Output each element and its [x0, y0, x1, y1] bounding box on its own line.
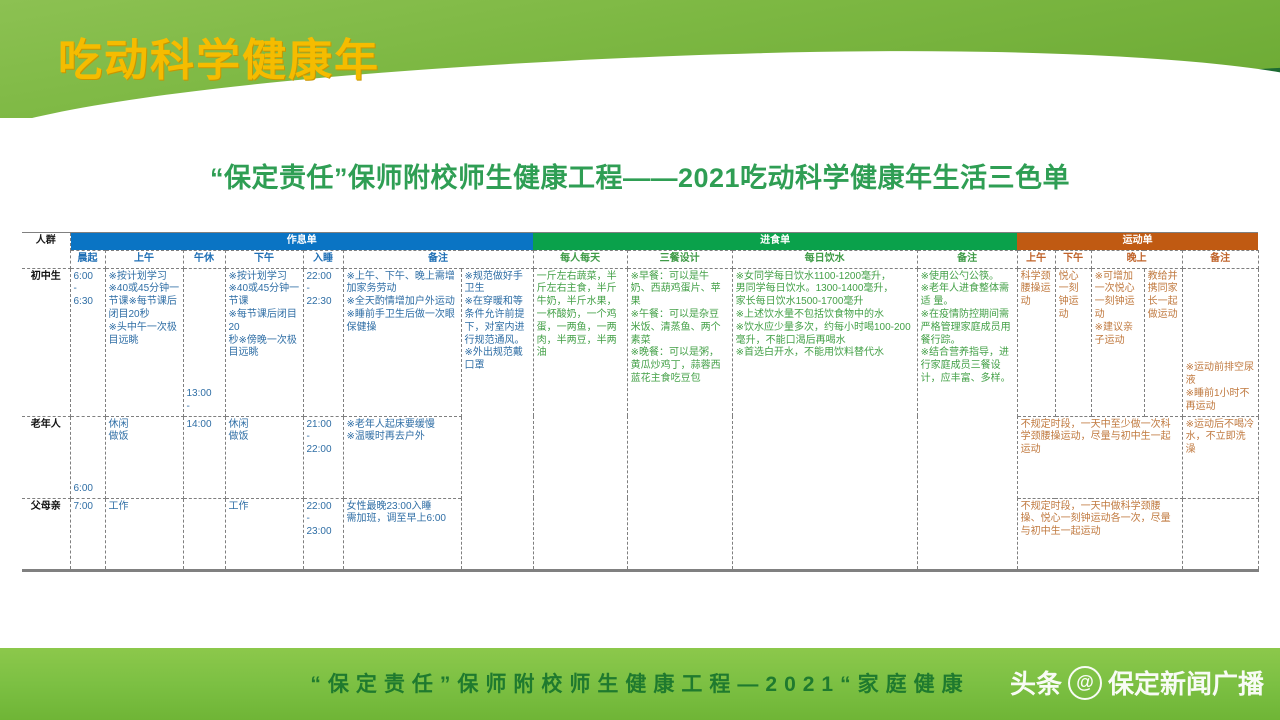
cell-shared-eat-daily: 一斤左右蔬菜，半斤左右主食，半斤牛奶，半斤水果，一杯酸奶，一个鸡蛋，一两鱼，一两…: [533, 268, 627, 570]
cell-parents-pm: 工作: [225, 498, 303, 570]
cell-junior-move-eve-family: 教给并携同家长一起做运动: [1144, 268, 1182, 416]
cell-parents-morning-rise: 7:00: [70, 498, 105, 570]
row-label-elder: 老年人: [22, 416, 70, 498]
cell-shared-move-note-top: ※运动前排空尿液 ※睡前1小时不再运动: [1182, 268, 1258, 416]
watermark-brand: 头条: [1010, 664, 1062, 701]
col-header-am: 上午: [105, 250, 183, 268]
cell-junior-move-pm: 悦心一刻钟运动: [1055, 268, 1091, 416]
three-color-table-wrapper: 人群 作息单 进食单 运动单 晨起 上午 午休 下午 入睡 备注 每人每天 三餐…: [22, 232, 1258, 572]
cell-parents-sleep: 22:00 - 23:00: [303, 498, 343, 570]
group-header-eat: 进食单: [533, 233, 1017, 251]
cell-shared-move-note-bottom: ※运动后不喝冷水，不立即洗澡: [1182, 416, 1258, 498]
cell-parents-am: 工作: [105, 498, 183, 570]
cell-junior-move-am: 科学颈腰操运动: [1017, 268, 1055, 416]
cell-junior-noon-rest: 13:00 -: [183, 268, 225, 416]
col-header-eat-note: 备注: [917, 250, 1017, 268]
col-header-move-eve: 晚上: [1091, 250, 1182, 268]
table-group-header-row: 人群 作息单 进食单 运动单: [22, 233, 1258, 251]
watermark-at-icon: @: [1068, 666, 1102, 700]
header-banner: 吃动科学健康年: [0, 0, 1280, 118]
col-header-morning-rise: 晨起: [70, 250, 105, 268]
cell-junior-am: ※按计划学习 ※40或45分钟一节课※每节课后闭目20秒 ※头中午一次极目远眺: [105, 268, 183, 416]
col-header-move-pm: 下午: [1055, 250, 1091, 268]
cell-shared-eat-note: ※使用公勺公筷。 ※老年人进食整体需适 量。 ※在疫情防控期间需严格管理家庭成员…: [917, 268, 1017, 570]
col-header-eat-daily: 每人每天: [533, 250, 627, 268]
cell-junior-move-eve: ※可增加一次悦心一刻钟运动 ※建议亲子运动: [1091, 268, 1144, 416]
cell-parents-noon-rest: [183, 498, 225, 570]
cell-elder-am: 休闲 做饭: [105, 416, 183, 498]
header-title: 吃动科学健康年: [58, 24, 380, 88]
cell-shared-hygiene-note: ※规范做好手卫生 ※在穿暖和等条件允许前提下，对室内进行规范通风。 ※外出规范戴…: [461, 268, 533, 570]
cell-elder-pm: 休闲 做饭: [225, 416, 303, 498]
table-row: 初中生 6:00 - 6:30 ※按计划学习 ※40或45分钟一节课※每节课后闭…: [22, 268, 1258, 416]
group-header-rest: 作息单: [70, 233, 533, 251]
cell-junior-rest-note: ※上午、下午、晚上需增加家务劳动 ※全天酌情增加户外运动 ※睡前手卫生后做一次眼…: [343, 268, 461, 416]
cell-parents-rest-note: 女性最晚23:00入睡 需加班，调至早上6:00: [343, 498, 461, 570]
cell-elder-rest-note: ※老年人起床要缓慢 ※温暖时再去户外: [343, 416, 461, 498]
cell-junior-pm: ※按计划学习 ※40或45分钟一节课 ※每节课后闭目20 秒※傍晚一次极目远眺: [225, 268, 303, 416]
col-header-pm: 下午: [225, 250, 303, 268]
col-header-noon-rest: 午休: [183, 250, 225, 268]
cell-parents-move-note: 不规定时段，一天中做科学颈腰操、悦心一刻钟运动各一次，尽量与初中生一起运动: [1017, 498, 1182, 570]
cell-shared-eat-meals: ※早餐：可以是牛奶、西葫鸡蛋片、苹果 ※午餐：可以是杂豆米饭、清蒸鱼、两个素菜 …: [627, 268, 732, 570]
watermark: 头条 @ 保定新闻广播: [1010, 664, 1264, 701]
cell-elder-noon-rest: 14:00: [183, 416, 225, 498]
col-header-eat-water: 每日饮水: [732, 250, 917, 268]
col-header-move-note: 备注: [1182, 250, 1258, 268]
group-header-move: 运动单: [1017, 233, 1258, 251]
col-header-sleep: 入睡: [303, 250, 343, 268]
cell-junior-morning-rise: 6:00 - 6:30: [70, 268, 105, 416]
cell-elder-sleep: 21:00 - 22:00: [303, 416, 343, 498]
cell-elder-move-note: 不规定时段，一天中至少做一次科学颈腰操运动，尽量与初中生一起运动: [1017, 416, 1182, 498]
table-corner-label: 人群: [22, 233, 70, 269]
cell-shared-eat-water: ※女同学每日饮水1100-1200毫升， 男同学每日饮水。1300-1400毫升…: [732, 268, 917, 570]
table-subheader-row: 晨起 上午 午休 下午 入睡 备注 每人每天 三餐设计 每日饮水 备注 上午 下…: [22, 250, 1258, 268]
col-header-eat-meals: 三餐设计: [627, 250, 732, 268]
footer-banner: “保定责任”保师附校师生健康工程—2021“家庭健康 头条 @ 保定新闻广播: [0, 648, 1280, 720]
col-header-rest-note: 备注: [343, 250, 533, 268]
three-color-table: 人群 作息单 进食单 运动单 晨起 上午 午休 下午 入睡 备注 每人每天 三餐…: [22, 232, 1259, 572]
col-header-move-am: 上午: [1017, 250, 1055, 268]
page-title: “保定责任”保师附校师生健康工程——2021吃动科学健康年生活三色单: [0, 156, 1280, 195]
cell-parents-move-note-empty: [1182, 498, 1258, 570]
cell-elder-morning-rise: 6:00: [70, 416, 105, 498]
row-label-junior: 初中生: [22, 268, 70, 416]
watermark-name: 保定新闻广播: [1108, 664, 1264, 701]
cell-junior-sleep: 22:00 - 22:30: [303, 268, 343, 416]
row-label-parents: 父母亲: [22, 498, 70, 570]
